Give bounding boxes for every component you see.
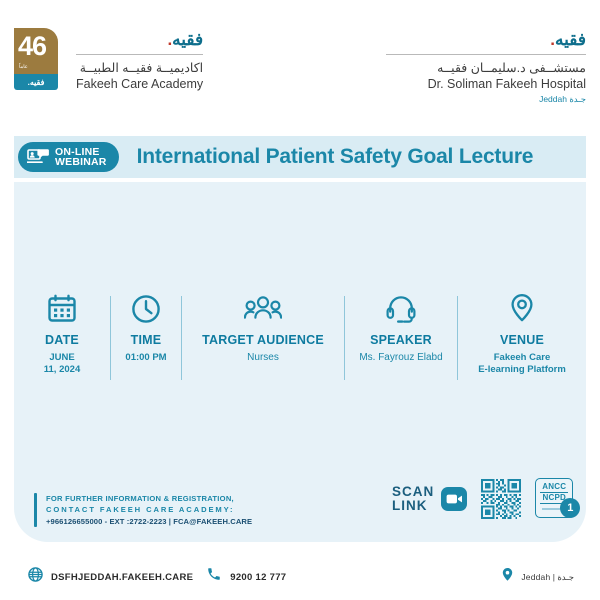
webinar-presentation-icon — [27, 148, 49, 166]
info-value-date-line2: 11, 2024 — [20, 364, 104, 376]
footer-location-text: جـدة | Jeddah — [521, 572, 574, 583]
hospital-name-english: Dr. Soliman Fakeeh Hospital — [386, 76, 586, 92]
video-camera-icon[interactable] — [441, 487, 467, 511]
academy-name-english: Fakeeh Care Academy — [76, 76, 203, 92]
academy-name-arabic: اكاديميــة فقيــه الطبيــة — [76, 60, 203, 76]
footer-left-group: DSFHJEDDAH.FAKEEH.CARE 9200 12 777 — [28, 567, 286, 587]
page-header: 46 عاماً فقيه. فقيه. اكاديميــة فقيــه ا… — [0, 0, 600, 128]
info-value-venue-line1: Fakeeh Care — [464, 352, 580, 364]
logo-gold-block: 46 عاماً — [14, 28, 58, 75]
hospital-wordmark-text: فقيه — [555, 30, 586, 49]
scan-link-row: SCAN LINK — [392, 476, 577, 522]
info-value-date-line1: JUNE — [20, 352, 104, 364]
hospital-brand-divider — [386, 54, 586, 55]
logo-bottom-word: فقيه. — [28, 78, 45, 87]
hospital-brand: فقيه. مستشــفى د.سليمــان فقيــه Dr. Sol… — [386, 30, 586, 105]
contact-accent-bar — [34, 493, 37, 527]
logo-number: 46 — [18, 31, 46, 61]
info-cell-speaker: SPEAKER Ms. Fayrouz Elabd — [345, 292, 457, 364]
footer-location: جـدة | Jeddah — [501, 567, 574, 588]
map-pin-icon — [501, 567, 514, 588]
info-cell-date: DATE JUNE 11, 2024 — [14, 292, 110, 376]
info-label-venue: VENUE — [464, 333, 580, 348]
anniversary-46-logo: 46 عاماً فقيه. — [14, 28, 58, 90]
webinar-badge-line2: WEBINAR — [55, 156, 107, 168]
hospital-wordmark: فقيه. — [386, 30, 586, 50]
contact-lines: FOR FURTHER INFORMATION & REGISTRATION, … — [46, 493, 252, 527]
info-label-speaker: SPEAKER — [351, 333, 451, 348]
hospital-city: جـدة Jeddah — [386, 93, 586, 105]
academy-wordmark: فقيه. — [76, 30, 203, 50]
footer-phone[interactable]: 9200 12 777 — [207, 567, 286, 587]
contact-line-3[interactable]: +966126655000 - EXT :2722-2223 | FCA@FAK… — [46, 516, 252, 527]
scan-line-1: SCAN — [392, 484, 434, 499]
globe-icon — [28, 567, 43, 587]
academy-brand-text: فقيه. اكاديميــة فقيــه الطبيــة Fakeeh … — [76, 28, 203, 92]
accreditation-ancc: ANCC — [536, 482, 572, 492]
scan-link-label-group: SCAN LINK — [392, 485, 467, 513]
contact-block: FOR FURTHER INFORMATION & REGISTRATION, … — [34, 493, 252, 527]
info-label-time: TIME — [117, 333, 175, 348]
scan-link-text: SCAN LINK — [392, 485, 434, 513]
info-value-target-audience: Nurses — [188, 352, 338, 364]
footer-website[interactable]: DSFHJEDDAH.FAKEEH.CARE — [28, 567, 193, 587]
info-cell-time: TIME 01:00 PM — [111, 292, 181, 364]
contact-line-2: CONTACT FAKEEH CARE ACADEMY: — [46, 505, 252, 516]
contact-line-1: FOR FURTHER INFORMATION & REGISTRATION, — [46, 494, 252, 505]
page-footer: DSFHJEDDAH.FAKEEH.CARE 9200 12 777 جـدة … — [0, 562, 600, 600]
footer-website-text: DSFHJEDDAH.FAKEEH.CARE — [51, 572, 193, 583]
info-cell-venue: VENUE Fakeeh Care E-learning Platform — [458, 292, 586, 376]
webinar-badge-label: ON-LINE WEBINAR — [55, 147, 107, 168]
accreditation-badge: ANCC NCPD 1 — [535, 476, 577, 522]
academy-brand: 46 عاماً فقيه. فقيه. اكاديميــة فقيــه ا… — [14, 28, 203, 92]
hospital-name-arabic: مستشــفى د.سليمــان فقيــه — [386, 60, 586, 76]
footer-phone-text: 9200 12 777 — [230, 572, 286, 583]
event-details-strip: DATE JUNE 11, 2024 TIME 01:00 PM — [14, 292, 586, 388]
headset-icon — [351, 292, 451, 326]
info-value-time: 01:00 PM — [117, 352, 175, 364]
academy-brand-divider — [76, 54, 203, 55]
logo-teal-band: فقيه. — [14, 74, 58, 90]
qr-code-icon[interactable] — [481, 479, 521, 519]
audience-icon — [188, 292, 338, 326]
info-value-speaker: Ms. Fayrouz Elabd — [351, 352, 451, 364]
lecture-title: International Patient Safety Goal Lectur… — [137, 145, 534, 169]
info-label-date: DATE — [20, 333, 104, 348]
title-banner: ON-LINE WEBINAR International Patient Sa… — [14, 136, 586, 178]
info-cell-target-audience: TARGET AUDIENCE Nurses — [182, 292, 344, 364]
info-label-target-audience: TARGET AUDIENCE — [188, 333, 338, 348]
scan-line-2: LINK — [392, 498, 428, 513]
academy-wordmark-text: فقيه — [172, 30, 203, 49]
online-webinar-badge: ON-LINE WEBINAR — [18, 142, 119, 172]
calendar-icon — [20, 292, 104, 326]
phone-icon — [207, 567, 222, 587]
location-pin-icon — [464, 292, 580, 326]
info-value-venue-line2: E-learning Platform — [464, 364, 580, 376]
clock-icon — [117, 292, 175, 326]
logo-small-label: عاماً — [19, 64, 28, 70]
